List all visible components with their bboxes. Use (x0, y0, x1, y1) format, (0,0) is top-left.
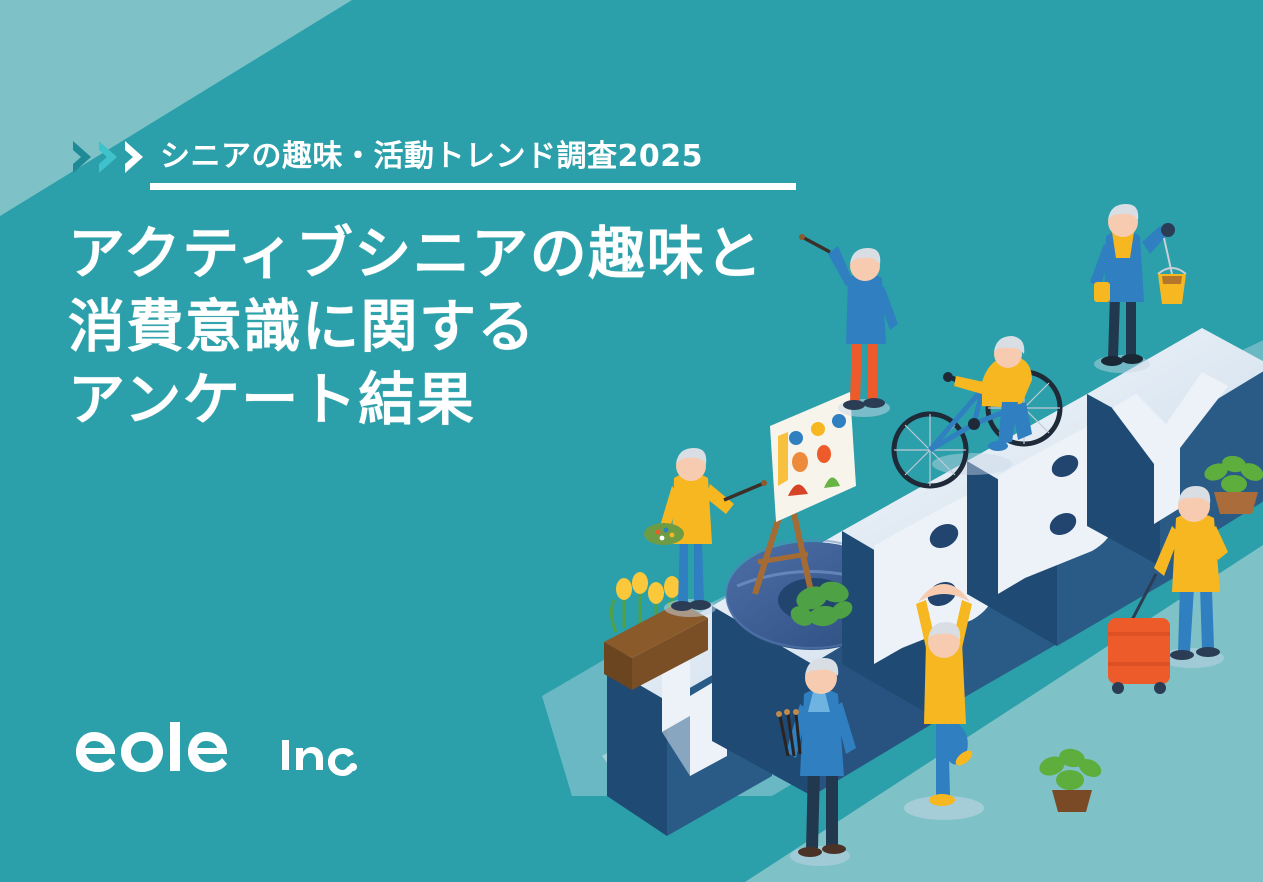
chevron-right-icon (70, 137, 96, 177)
headline-line-2: 消費意識に関する (68, 291, 898, 364)
headline-line-3: アンケート結果 (68, 364, 898, 437)
potted-plant-mid (1037, 746, 1105, 812)
chevron-right-icon (122, 137, 148, 177)
page-title: アクティブシニアの趣味と 消費意識に関する アンケート結果 (68, 218, 898, 437)
chevron-group (70, 137, 148, 177)
eole-wordmark (72, 722, 272, 778)
eole-logo (72, 722, 358, 778)
slide-root: シニアの趣味・活動トレンド調査2025 アクティブシニアの趣味と 消費意識に関す… (0, 0, 1263, 882)
chevron-right-icon (96, 137, 122, 177)
eyebrow-underline (150, 183, 796, 190)
eyebrow-row: シニアの趣味・活動トレンド調査2025 (70, 131, 703, 183)
eyebrow-label: シニアの趣味・活動トレンド調査2025 (160, 142, 703, 172)
headline-line-1: アクティブシニアの趣味と (68, 218, 898, 291)
eole-logo-suffix (280, 732, 358, 776)
